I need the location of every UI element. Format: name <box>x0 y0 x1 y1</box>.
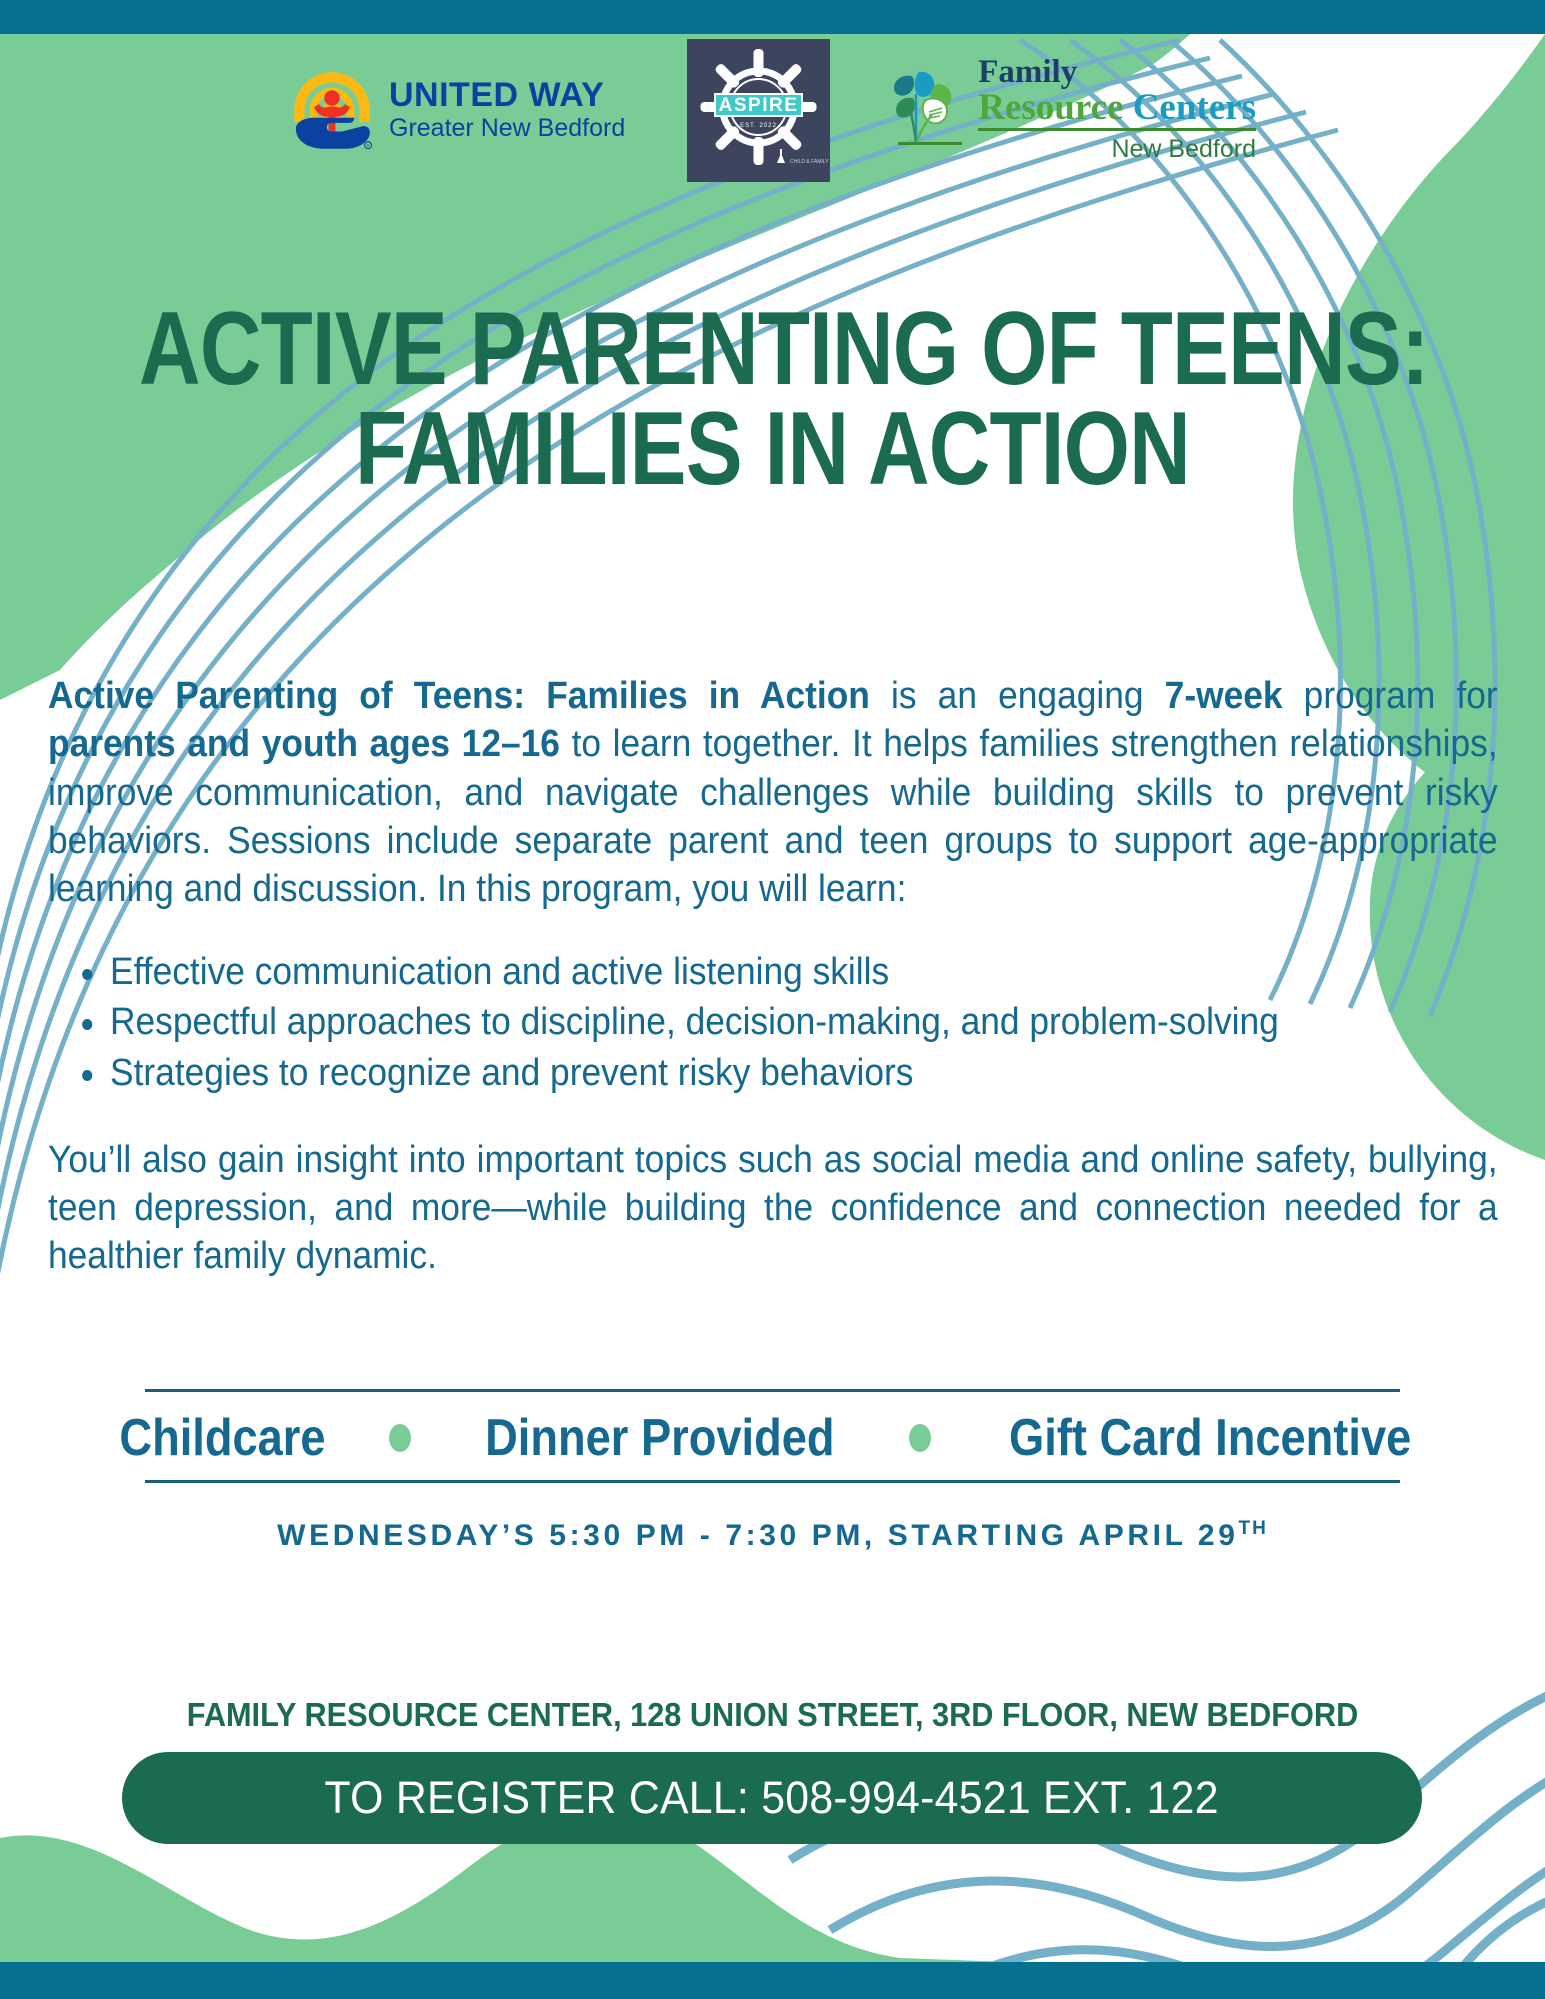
blue-wave-lines-bottom-right <box>790 1690 1545 1999</box>
frc-line-3: New Bedford <box>978 135 1256 164</box>
register-cta-button[interactable]: TO REGISTER CALL: 508-994-4521 EXT. 122 <box>122 1752 1422 1844</box>
united-way-locale: Greater New Bedford <box>389 116 625 142</box>
benefit-dinner: Dinner Provided <box>485 1408 834 1468</box>
benefits-strip: Childcare Dinner Provided Gift Card Ince… <box>145 1389 1400 1483</box>
united-way-mark-icon: R <box>289 67 375 153</box>
body-content: Active Parenting of Teens: Families in A… <box>48 672 1498 1280</box>
duration-bold: 7-week <box>1165 675 1283 717</box>
frc-centers-word: Centers <box>1133 87 1256 128</box>
intro-text-2: program for <box>1283 675 1498 717</box>
list-item: Effective communication and active liste… <box>110 947 1401 997</box>
aspire-ships-wheel-icon: ASPIRE EST. 2022 CHILD & FAMILY SERVICES <box>687 39 830 182</box>
svg-text:ASPIRE: ASPIRE <box>719 95 799 116</box>
logo-row: R UNITED WAY Greater New Bedford <box>0 40 1545 180</box>
united-way-name: UNITED WAY <box>389 78 625 113</box>
benefit-childcare: Childcare <box>119 1408 325 1468</box>
closing-paragraph: You’ll also gain insight into important … <box>48 1136 1498 1281</box>
venue-address: FAMILY RESOURCE CENTER, 128 UNION STREET… <box>54 1696 1491 1734</box>
bottom-accent-bar <box>0 1962 1545 1999</box>
flyer-page: R UNITED WAY Greater New Bedford <box>0 0 1545 1999</box>
frc-line-1: Family <box>978 56 1256 89</box>
svg-text:EST. 2022: EST. 2022 <box>740 123 777 129</box>
schedule-ordinal: TH <box>1238 1518 1267 1539</box>
schedule-line: WEDNESDAY’S 5:30 PM - 7:30 PM, STARTING … <box>0 1518 1545 1553</box>
list-item: Strategies to recognize and prevent risk… <box>110 1048 1401 1098</box>
top-accent-bar <box>0 0 1545 34</box>
svg-text:R: R <box>367 143 370 148</box>
title-line-2: FAMILIES IN ACTION <box>139 400 1406 500</box>
united-way-logo: R UNITED WAY Greater New Bedford <box>289 67 625 153</box>
frc-line-2: Resource Centers <box>978 89 1256 131</box>
learning-outcomes-list: Effective communication and active liste… <box>48 947 1498 1097</box>
page-title: ACTIVE PARENTING OF TEENS: FAMILIES IN A… <box>0 300 1545 500</box>
schedule-text: WEDNESDAY’S 5:30 PM - 7:30 PM, STARTING … <box>277 1519 1238 1552</box>
frc-tree-hand-icon <box>892 68 970 152</box>
register-cta-label: TO REGISTER CALL: 508-994-4521 EXT. 122 <box>325 1772 1219 1824</box>
benefits-rule-bottom <box>145 1480 1400 1483</box>
dot-separator-icon <box>389 1424 411 1452</box>
aspire-logo: ASPIRE EST. 2022 CHILD & FAMILY SERVICES <box>687 39 830 182</box>
family-resource-centers-logo: Family Resource Centers New Bedford <box>892 56 1256 164</box>
frc-resource-word: Resource <box>978 87 1123 128</box>
svg-text:CHILD & FAMILY SERVICES: CHILD & FAMILY SERVICES <box>790 159 830 165</box>
benefit-gift-card: Gift Card Incentive <box>1009 1408 1411 1468</box>
intro-text-1: is an engaging <box>870 675 1165 717</box>
dot-separator-icon <box>909 1424 931 1452</box>
benefits-row: Childcare Dinner Provided Gift Card Ince… <box>145 1392 1400 1480</box>
program-name-bold: Active Parenting of Teens: Families in A… <box>48 675 870 717</box>
list-item: Respectful approaches to discipline, dec… <box>110 997 1401 1047</box>
audience-bold: parents and youth ages 12–16 <box>48 723 560 765</box>
intro-paragraph: Active Parenting of Teens: Families in A… <box>48 672 1498 913</box>
title-line-1: ACTIVE PARENTING OF TEENS: <box>139 300 1406 400</box>
